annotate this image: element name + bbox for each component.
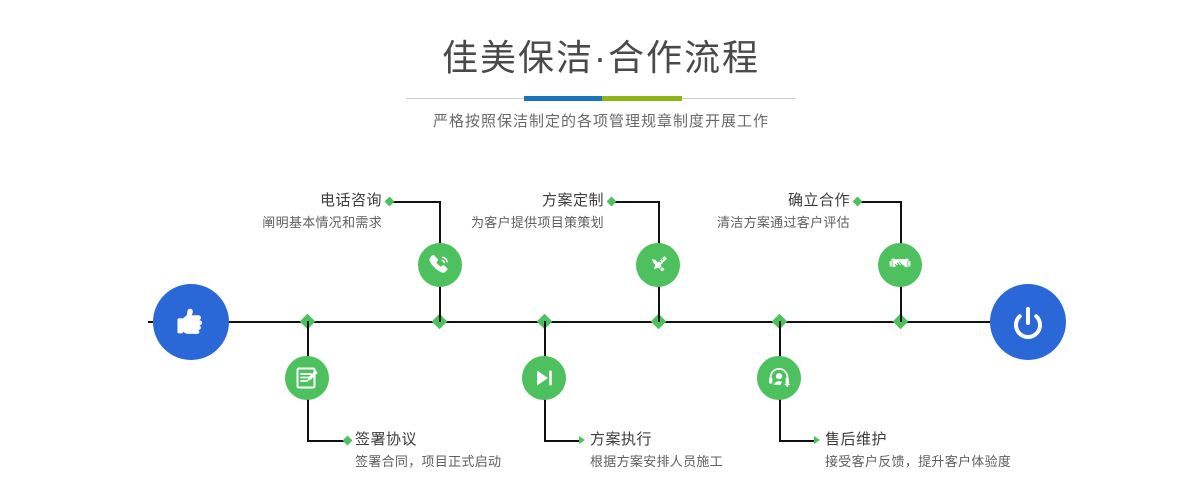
step-icon-handshake[interactable]	[878, 243, 922, 287]
callout-leader-vertical-2	[307, 401, 309, 441]
callout-caption: 方案执行	[590, 430, 810, 450]
step-icon-pencil-ruler[interactable]	[636, 243, 680, 287]
callout-leader-horizontal-2	[307, 440, 345, 442]
power-icon	[1006, 300, 1050, 344]
callout-arrow-4	[579, 436, 585, 444]
callout-description: 阐明基本情况和需求	[186, 213, 382, 232]
timeline-end-endpoint[interactable]	[990, 284, 1066, 360]
callout-description: 签署合同，项目正式启动	[355, 452, 575, 471]
header: 佳美保洁·合作流程 严格按照保洁制定的各项管理规章制度开展工作	[0, 0, 1202, 132]
play-next-icon	[531, 365, 557, 391]
callout-caption: 签署协议	[355, 430, 575, 450]
callout-caption: 确立合作	[640, 191, 850, 211]
pencil-ruler-icon	[645, 252, 671, 278]
callout-step-6: 确立合作 清洁方案通过客户评估	[640, 191, 850, 232]
step-icon-phone-call[interactable]	[418, 243, 462, 287]
title-divider	[406, 98, 796, 99]
timeline-axis	[148, 321, 1058, 323]
callout-leader-vertical-4	[544, 401, 546, 441]
callout-description: 清洁方案通过客户评估	[640, 213, 850, 232]
callout-caption: 电话咨询	[186, 191, 382, 211]
pointing-hand-icon	[169, 300, 213, 344]
callout-leader-horizontal-6	[858, 201, 901, 203]
callout-step-5: 售后维护 接受客户反馈，提升客户体验度	[825, 430, 1075, 471]
callout-leader-vertical-5	[779, 401, 781, 441]
timeline-start-endpoint[interactable]	[153, 284, 229, 360]
divider-blue-segment	[524, 96, 602, 101]
callout-leader-vertical-6	[900, 201, 902, 236]
divider-green-segment	[602, 96, 682, 101]
document-edit-icon	[294, 365, 320, 391]
callout-marker-2	[343, 436, 353, 446]
callout-caption: 方案定制	[400, 191, 604, 211]
callout-marker-3	[607, 197, 617, 207]
callout-step-2: 签署协议 签署合同，项目正式启动	[355, 430, 575, 471]
step-icon-headset-support[interactable]	[757, 356, 801, 400]
callout-description: 为客户提供项目策策划	[400, 213, 604, 232]
page-title: 佳美保洁·合作流程	[0, 0, 1202, 80]
callout-step-1: 电话咨询 阐明基本情况和需求	[186, 191, 382, 232]
callout-arrow-5	[814, 436, 820, 444]
step-icon-document-edit[interactable]	[285, 356, 329, 400]
callout-marker-1	[385, 197, 395, 207]
cooperation-flow-infographic: 佳美保洁·合作流程 严格按照保洁制定的各项管理规章制度开展工作	[0, 0, 1202, 502]
callout-caption: 售后维护	[825, 430, 1075, 450]
callout-description: 接受客户反馈，提升客户体验度	[825, 452, 1075, 471]
callout-marker-6	[853, 197, 863, 207]
callout-step-4: 方案执行 根据方案安排人员施工	[590, 430, 810, 471]
step-icon-play-next[interactable]	[522, 356, 566, 400]
callout-leader-horizontal-4	[544, 440, 580, 442]
callout-description: 根据方案安排人员施工	[590, 452, 810, 471]
callout-step-3: 方案定制 为客户提供项目策策划	[400, 191, 604, 232]
page-subtitle: 严格按照保洁制定的各项管理规章制度开展工作	[0, 99, 1202, 132]
handshake-icon	[887, 252, 913, 278]
callout-leader-horizontal-5	[779, 440, 815, 442]
headset-support-icon	[766, 365, 792, 391]
phone-call-icon	[427, 252, 453, 278]
